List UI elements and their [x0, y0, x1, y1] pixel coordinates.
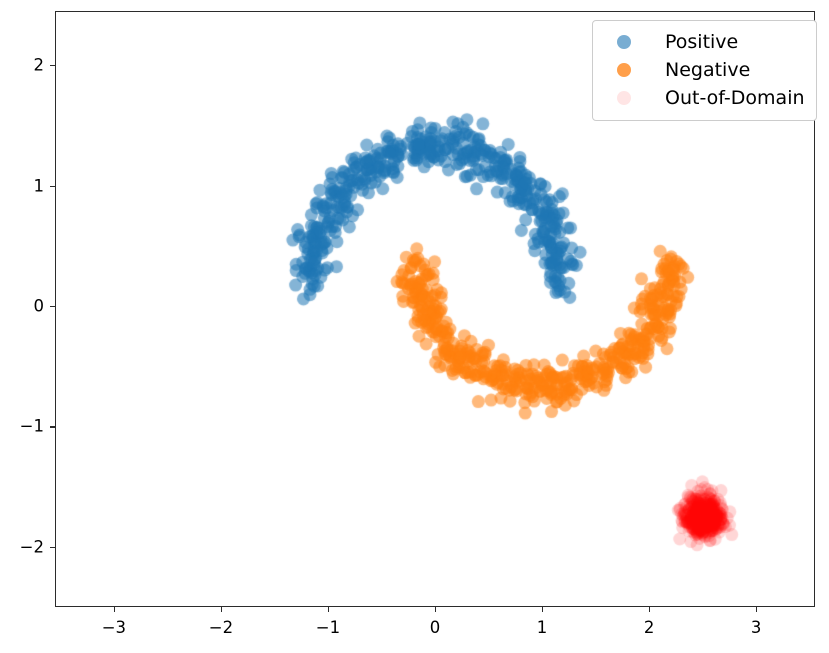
y-tick-mark — [50, 426, 55, 427]
scatter-plot-figure: −2−1012 −3−2−10123 Positive Negative Out… — [0, 0, 829, 653]
x-tick-mark — [435, 607, 436, 612]
legend-entry-negative: Negative — [604, 56, 805, 84]
y-tick-mark — [50, 186, 55, 187]
x-tick-label: −1 — [316, 618, 340, 637]
legend-swatch-out-of-domain — [617, 91, 631, 105]
legend: Positive Negative Out-of-Domain — [592, 20, 817, 121]
legend-label-positive: Positive — [665, 31, 738, 53]
legend-swatch-negative — [617, 63, 631, 77]
y-tick-label: 0 — [8, 296, 44, 315]
legend-swatch-positive — [617, 35, 631, 49]
legend-label-out-of-domain: Out-of-Domain — [665, 87, 805, 109]
x-tick-label: 1 — [537, 618, 548, 637]
y-tick-mark — [50, 65, 55, 66]
y-tick-mark — [50, 306, 55, 307]
x-tick-label: −2 — [209, 618, 233, 637]
x-tick-mark — [221, 607, 222, 612]
x-tick-mark — [649, 607, 650, 612]
y-tick-label: 1 — [8, 176, 44, 195]
x-tick-label: −3 — [102, 618, 126, 637]
x-tick-mark — [114, 607, 115, 612]
x-tick-mark — [328, 607, 329, 612]
x-tick-label: 2 — [644, 618, 655, 637]
y-tick-label: 2 — [8, 56, 44, 75]
x-tick-mark — [542, 607, 543, 612]
legend-label-negative: Negative — [665, 59, 750, 81]
legend-entry-positive: Positive — [604, 28, 805, 56]
legend-entry-out-of-domain: Out-of-Domain — [604, 84, 805, 112]
y-tick-label: −2 — [8, 537, 44, 556]
y-tick-label: −1 — [8, 417, 44, 436]
x-tick-label: 0 — [430, 618, 441, 637]
y-tick-mark — [50, 547, 55, 548]
x-tick-label: 3 — [751, 618, 762, 637]
x-tick-mark — [756, 607, 757, 612]
